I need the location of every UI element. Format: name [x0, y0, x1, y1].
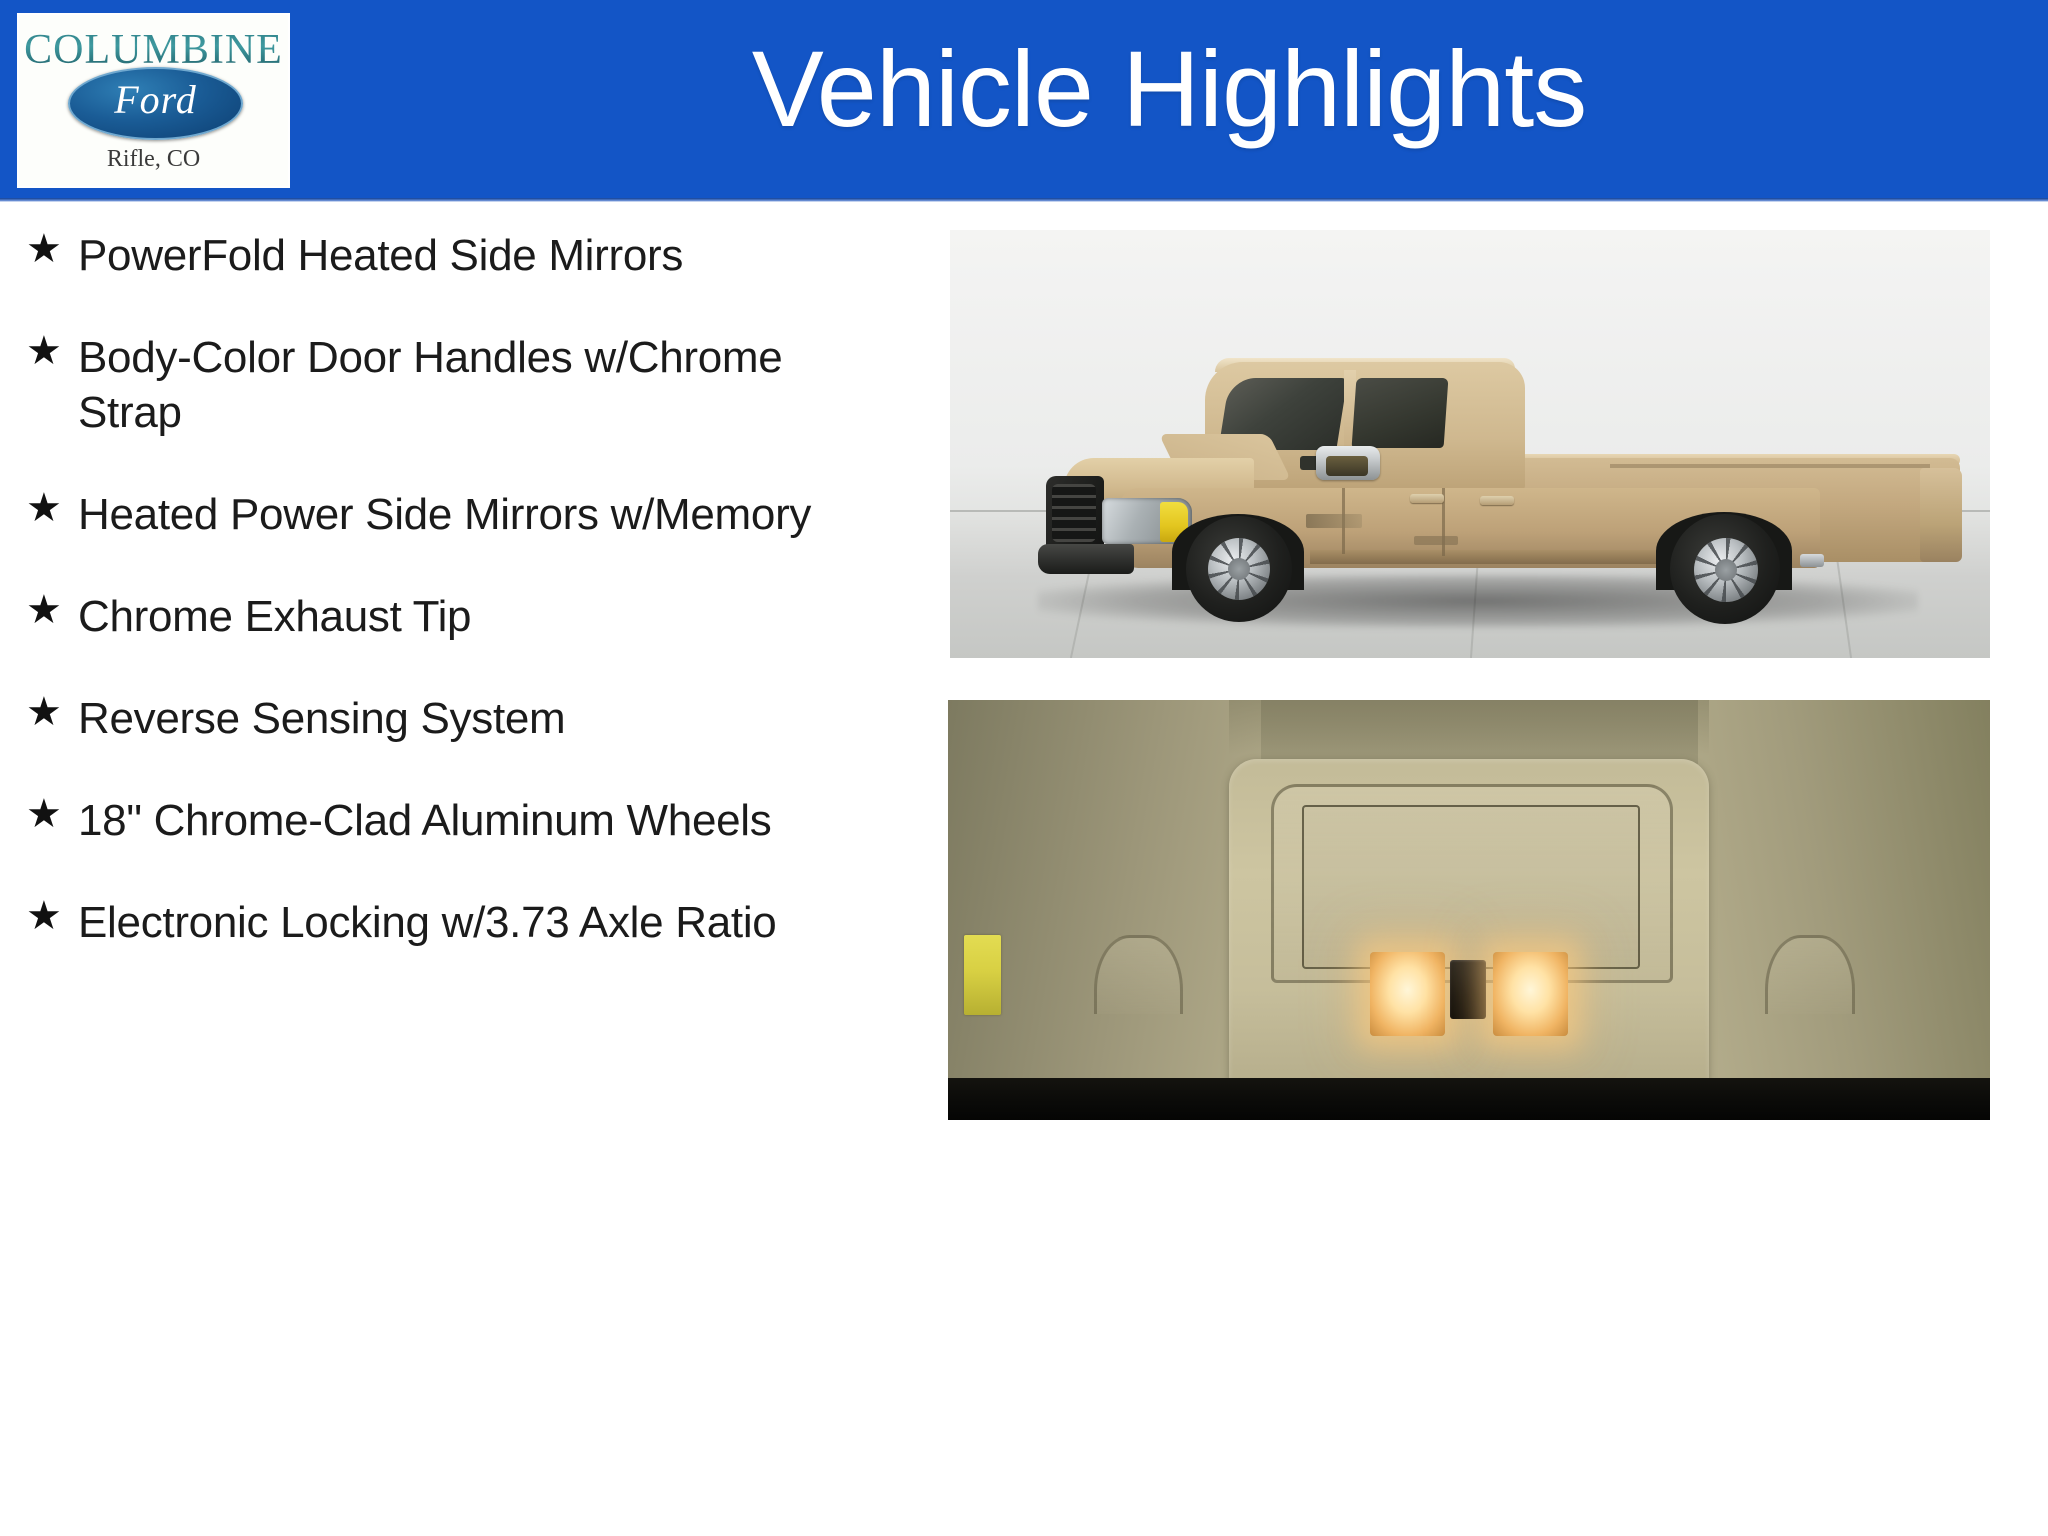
list-item-label: Reverse Sensing System	[78, 691, 918, 746]
ford-script-label: Ford	[70, 80, 241, 120]
console-storage-bin-lid	[1302, 805, 1639, 969]
header-underline-divider	[0, 198, 2048, 202]
star-icon: ★	[18, 589, 78, 631]
side-mirror-glass	[1326, 456, 1368, 476]
vehicle-exterior-photo	[950, 230, 1990, 658]
truck-fender-badge	[1306, 514, 1362, 528]
list-item-label: Chrome Exhaust Tip	[78, 589, 918, 644]
truck-rocker-panel	[1310, 550, 1710, 564]
slide-header: COLUMBINE Ford Rifle, CO Vehicle Highlig…	[0, 0, 2048, 198]
list-item: ★ Body-Color Door Handles w/Chrome Strap	[18, 330, 918, 440]
list-item-label: Electronic Locking w/3.73 Axle Ratio	[78, 895, 918, 950]
star-icon: ★	[18, 228, 78, 270]
headliner-left	[948, 700, 1261, 1120]
truck-grille-bars	[1052, 484, 1096, 542]
console-switch	[1450, 960, 1485, 1019]
grab-handle-left	[1094, 935, 1183, 1014]
headliner-seam	[1229, 700, 1708, 755]
ford-f150-truck-illustration	[1010, 338, 1970, 638]
list-item: ★ Heated Power Side Mirrors w/Memory	[18, 487, 918, 542]
list-item-label: PowerFold Heated Side Mirrors	[78, 228, 918, 283]
ford-oval-icon: Ford	[68, 67, 243, 140]
windshield-dark-area	[948, 1078, 1990, 1120]
vehicle-highlights-list: ★ PowerFold Heated Side Mirrors ★ Body-C…	[18, 228, 918, 997]
dealer-location-label: Rifle, CO	[19, 147, 288, 171]
dealer-logo: COLUMBINE Ford Rifle, CO	[17, 13, 290, 188]
wheel-hub-front	[1228, 558, 1250, 580]
truck-rear-door-window	[1352, 378, 1449, 448]
warning-label-sticker	[964, 935, 1002, 1015]
headliner-right	[1698, 700, 1990, 1120]
list-item-label: Heated Power Side Mirrors w/Memory	[78, 487, 918, 542]
star-icon: ★	[18, 330, 78, 372]
list-item-label: 18" Chrome-Clad Aluminum Wheels	[78, 793, 918, 848]
star-icon: ★	[18, 895, 78, 937]
list-item-label: Body-Color Door Handles w/Chrome Strap	[78, 330, 918, 440]
map-light-left	[1370, 952, 1445, 1036]
truck-front-bumper	[1038, 544, 1134, 574]
star-icon: ★	[18, 691, 78, 733]
body-color-door-handle	[1480, 496, 1514, 505]
truck-door-badge	[1414, 536, 1458, 545]
slide-canvas: COLUMBINE Ford Rifle, CO Vehicle Highlig…	[0, 0, 2048, 1536]
list-item: ★ Chrome Exhaust Tip	[18, 589, 918, 644]
truck-bed-rail-line	[1610, 464, 1930, 468]
grab-handle-right	[1765, 935, 1854, 1014]
list-item: ★ Reverse Sensing System	[18, 691, 918, 746]
wheel-hub-rear	[1715, 559, 1737, 581]
body-color-door-handle	[1410, 494, 1444, 503]
overhead-console-photo	[948, 700, 1990, 1120]
list-item: ★ PowerFold Heated Side Mirrors	[18, 228, 918, 283]
truck-tailgate	[1920, 468, 1962, 562]
star-icon: ★	[18, 793, 78, 835]
map-light-right	[1493, 952, 1568, 1036]
chrome-exhaust-tip	[1800, 554, 1824, 567]
dealer-logo-wordmark: COLUMBINE	[19, 29, 288, 71]
list-item: ★ Electronic Locking w/3.73 Axle Ratio	[18, 895, 918, 950]
star-icon: ★	[18, 487, 78, 529]
page-title: Vehicle Highlights	[290, 30, 2048, 149]
list-item: ★ 18" Chrome-Clad Aluminum Wheels	[18, 793, 918, 848]
